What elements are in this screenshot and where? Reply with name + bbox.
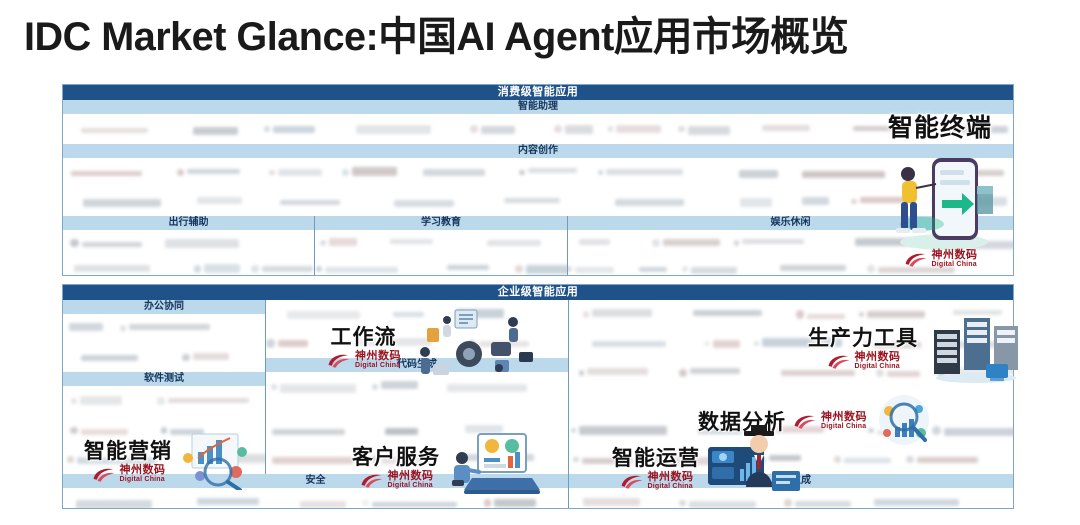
vendor-logo-placeholder xyxy=(944,428,1013,436)
consumer-row-label-content: 内容创作 xyxy=(63,144,1013,158)
vendor-logo-placeholder xyxy=(165,239,238,248)
vendor-logo-mark-placeholder xyxy=(583,311,590,318)
vendor-logo-mark-placeholder xyxy=(70,427,78,435)
vendor-logo-placeholder xyxy=(582,458,633,464)
vendor-logo-mark-placeholder xyxy=(372,384,379,391)
logo-row-education xyxy=(315,230,567,276)
vendor-logo-placeholder xyxy=(372,502,457,508)
enterprise-column-security: 安全 xyxy=(63,474,568,509)
vendor-logo-placeholder xyxy=(690,368,740,374)
vendor-logo-placeholder xyxy=(775,426,824,433)
vendor-logo-placeholder xyxy=(481,126,514,134)
vendor-logo-mark-placeholder xyxy=(320,240,326,246)
vendor-logo-placeholder xyxy=(390,239,433,244)
vendor-logo-placeholder xyxy=(968,241,1013,249)
enterprise-columns: 办公协同 软件测试 代码生成 xyxy=(63,300,1013,416)
vendor-logo-placeholder xyxy=(583,498,640,506)
vendor-logo-placeholder xyxy=(587,368,648,374)
vendor-logo-mark-placeholder xyxy=(161,427,168,434)
vendor-logo-mark-placeholder xyxy=(67,456,73,462)
vendor-logo-placeholder xyxy=(860,197,910,203)
enterprise-column-marketing xyxy=(63,416,265,474)
vendor-logo-placeholder xyxy=(81,128,148,134)
vendor-logo-placeholder xyxy=(952,126,1008,133)
vendor-logo-placeholder xyxy=(917,457,978,462)
vendor-logo-placeholder xyxy=(693,310,761,316)
enterprise-bottom-strip: 安全 应用生成 xyxy=(63,474,1013,509)
vendor-logo-placeholder xyxy=(887,371,920,376)
vendor-logo-placeholder xyxy=(385,428,417,435)
consumer-row-label-assistant: 智能助理 xyxy=(63,100,1013,114)
vendor-logo-placeholder xyxy=(740,198,772,207)
vendor-logo-placeholder xyxy=(394,200,453,206)
vendor-logo-placeholder xyxy=(526,265,567,274)
vendor-logo-placeholder xyxy=(278,169,323,176)
vendor-logo-mark-placeholder xyxy=(941,125,949,133)
vendor-logo-mark-placeholder xyxy=(70,239,79,248)
vendor-logo-placeholder xyxy=(616,125,661,133)
vendor-logo-mark-placeholder xyxy=(515,265,522,272)
vendor-logo-placeholder xyxy=(76,500,152,508)
enterprise-section-header: 企业级智能应用 xyxy=(63,285,1013,300)
vendor-logo-placeholder xyxy=(193,127,238,135)
vendor-logo-mark-placeholder xyxy=(959,240,966,247)
logo-row-appgen xyxy=(569,488,1013,509)
vendor-logo-placeholder xyxy=(949,368,1013,374)
logo-row-content xyxy=(63,158,1013,216)
vendor-logo-placeholder xyxy=(204,264,239,273)
vendor-logo-placeholder xyxy=(953,310,1002,315)
vendor-logo-mark-placeholder xyxy=(579,370,584,375)
vendor-logo-placeholder xyxy=(592,309,651,317)
vendor-logo-placeholder xyxy=(193,353,229,360)
vendor-logo-placeholder xyxy=(447,384,527,392)
consumer-column-travel: 出行辅助 xyxy=(63,216,314,276)
vendor-logo-placeholder xyxy=(606,169,683,175)
vendor-logo-placeholder xyxy=(272,429,345,434)
vendor-logo-placeholder xyxy=(504,198,560,203)
vendor-logo-placeholder xyxy=(487,240,541,247)
logo-row-security xyxy=(63,488,568,509)
vendor-logo-mark-placeholder xyxy=(868,428,874,434)
vendor-logo-placeholder xyxy=(168,398,249,403)
vendor-logo-placeholder xyxy=(81,355,138,361)
logo-row-productivity xyxy=(569,300,1013,358)
vendor-logo-placeholder xyxy=(807,314,845,320)
vendor-logo-mark-placeholder xyxy=(784,499,792,507)
vendor-logo-placeholder xyxy=(742,239,804,244)
vendor-logo-placeholder xyxy=(932,197,1007,206)
enterprise-label-office: 办公协同 xyxy=(63,300,265,314)
enterprise-columns-lower xyxy=(63,416,1013,474)
vendor-logo-mark-placeholder xyxy=(571,428,577,434)
vendor-logo-placeholder xyxy=(356,125,432,134)
vendor-logo-placeholder xyxy=(867,311,925,318)
vendor-logo-placeholder xyxy=(579,239,610,246)
vendor-logo-placeholder xyxy=(874,499,959,506)
consumer-column-label-travel: 出行辅助 xyxy=(63,216,314,230)
vendor-logo-mark-placeholder xyxy=(316,266,322,272)
vendor-logo-mark-placeholder xyxy=(348,341,354,347)
vendor-logo-placeholder xyxy=(287,311,359,319)
vendor-logo-mark-placeholder xyxy=(679,500,686,507)
vendor-logo-mark-placeholder xyxy=(269,170,275,176)
enterprise-label-testing: 软件测试 xyxy=(63,372,265,386)
vendor-logo-mark-placeholder xyxy=(906,456,914,464)
vendor-logo-placeholder xyxy=(463,454,534,461)
vendor-logo-mark-placeholder xyxy=(362,500,369,507)
vendor-logo-mark-placeholder xyxy=(194,265,201,272)
consumer-bottom-columns: 出行辅助 学习教育 娱乐休闲 xyxy=(63,216,1013,276)
vendor-logo-mark-placeholder xyxy=(851,199,857,205)
vendor-logo-placeholder xyxy=(739,170,778,178)
page-title: IDC Market Glance:中国AI Agent应用市场概览 xyxy=(24,8,1054,66)
vendor-logo-placeholder xyxy=(381,457,431,464)
vendor-logo-mark-placeholder xyxy=(863,340,871,348)
vendor-logo-placeholder xyxy=(74,265,150,272)
vendor-logo-placeholder xyxy=(795,501,851,507)
logo-row-assistant xyxy=(63,114,1013,144)
vendor-logo-placeholder xyxy=(844,458,891,463)
logo-row-code xyxy=(266,372,568,402)
vendor-logo-placeholder xyxy=(655,457,736,466)
vendor-logo-placeholder xyxy=(781,370,854,376)
vendor-logo-mark-placeholder xyxy=(796,310,805,319)
vendor-logo-mark-placeholder xyxy=(759,456,766,463)
vendor-logo-mark-placeholder xyxy=(264,126,270,132)
vendor-logo-placeholder xyxy=(273,126,315,133)
vendor-logo-mark-placeholder xyxy=(608,126,613,131)
vendor-logo-placeholder xyxy=(465,425,503,433)
vendor-logo-placeholder xyxy=(329,238,356,246)
vendor-logo-placeholder xyxy=(280,200,340,206)
vendor-logo-placeholder xyxy=(170,429,204,435)
enterprise-label-appgen: 应用生成 xyxy=(569,474,1013,488)
vendor-logo-placeholder xyxy=(82,242,142,248)
consumer-column-entertainment: 娱乐休闲 xyxy=(567,216,1013,276)
vendor-logo-placeholder xyxy=(81,429,128,435)
vendor-logo-placeholder xyxy=(615,199,685,206)
vendor-logo-mark-placeholder xyxy=(754,341,759,346)
vendor-logo-placeholder xyxy=(80,396,122,404)
vendor-logo-mark-placeholder xyxy=(484,499,491,506)
logo-row-operations xyxy=(569,416,1013,474)
vendor-logo-placeholder xyxy=(575,267,614,273)
vendor-logo-placeholder xyxy=(325,267,398,273)
vendor-logo-mark-placeholder xyxy=(251,265,258,272)
vendor-logo-mark-placeholder xyxy=(120,325,126,331)
consumer-column-label-entertainment: 娱乐休闲 xyxy=(568,216,1013,230)
vendor-logo-mark-placeholder xyxy=(573,457,578,462)
vendor-logo-mark-placeholder xyxy=(71,398,77,404)
vendor-logo-placeholder xyxy=(802,171,885,177)
vendor-logo-placeholder xyxy=(762,338,842,346)
vendor-logo-placeholder xyxy=(77,457,157,464)
logo-row-analytics xyxy=(569,358,1013,388)
vendor-logo-placeholder xyxy=(592,341,666,347)
vendor-logo-mark-placeholder xyxy=(937,369,946,378)
enterprise-column-office: 办公协同 软件测试 xyxy=(63,300,265,416)
vendor-logo-placeholder xyxy=(71,171,143,177)
vendor-logo-mark-placeholder xyxy=(932,426,940,434)
vendor-logo-mark-placeholder xyxy=(734,240,739,245)
logo-row-marketing xyxy=(63,416,265,474)
vendor-logo-mark-placeholder xyxy=(859,312,865,318)
vendor-logo-placeholder xyxy=(300,501,345,507)
vendor-logo-placeholder xyxy=(579,426,667,434)
vendor-logo-placeholder xyxy=(877,430,910,436)
vendor-logo-placeholder xyxy=(69,323,102,331)
vendor-logo-mark-placeholder xyxy=(177,169,185,177)
vendor-logo-placeholder xyxy=(83,199,161,206)
consumer-column-education: 学习教育 xyxy=(314,216,567,276)
logo-row-travel xyxy=(63,230,314,276)
vendor-logo-placeholder xyxy=(780,265,846,271)
vendor-logo-placeholder xyxy=(874,342,920,348)
vendor-logo-placeholder xyxy=(855,238,927,246)
vendor-logo-mark-placeholder xyxy=(652,239,660,247)
logo-row-workflow xyxy=(266,300,568,358)
vendor-logo-mark-placeholder xyxy=(763,426,772,435)
vendor-logo-placeholder xyxy=(878,267,955,273)
vendor-logo-placeholder xyxy=(393,312,425,318)
vendor-logo-placeholder xyxy=(528,168,578,173)
logo-row-entertainment xyxy=(568,230,1013,276)
enterprise-label-security: 安全 xyxy=(63,474,568,488)
vendor-logo-mark-placeholder xyxy=(342,169,349,176)
enterprise-column-productivity xyxy=(568,300,1013,416)
vendor-logo-mark-placeholder xyxy=(519,170,524,175)
vendor-logo-mark-placeholder xyxy=(371,456,378,463)
vendor-logo-placeholder xyxy=(280,384,356,392)
vendor-logo-mark-placeholder xyxy=(679,369,687,377)
vendor-logo-placeholder xyxy=(691,267,737,274)
vendor-logo-mark-placeholder xyxy=(157,397,165,405)
vendor-logo-mark-placeholder xyxy=(568,266,572,273)
vendor-logo-mark-placeholder xyxy=(678,126,684,132)
vendor-logo-mark-placeholder xyxy=(598,170,603,175)
vendor-logo-placeholder xyxy=(853,126,908,131)
vendor-logo-placeholder xyxy=(352,167,397,175)
vendor-logo-placeholder xyxy=(762,125,811,131)
vendor-logo-placeholder xyxy=(951,341,1013,348)
vendor-logo-placeholder xyxy=(278,340,309,347)
vendor-logo-mark-placeholder xyxy=(682,266,688,272)
logo-row-service xyxy=(266,416,568,474)
consumer-section-header: 消费级智能应用 xyxy=(63,85,1013,100)
enterprise-column-operations xyxy=(568,416,1013,474)
vendor-logo-placeholder xyxy=(197,498,259,506)
vendor-logo-placeholder xyxy=(565,125,594,133)
enterprise-section-panel: 企业级智能应用 办公协同 软件测试 代码生成 xyxy=(62,284,1014,509)
vendor-logo-placeholder xyxy=(198,454,265,462)
vendor-logo-mark-placeholder xyxy=(271,384,277,390)
consumer-section-panel: 消费级智能应用 智能助理 内容创作 出行辅助 学习教育 娱乐休闲 xyxy=(62,84,1014,276)
vendor-logo-mark-placeholder xyxy=(182,354,190,362)
vendor-logo-mark-placeholder xyxy=(470,125,479,134)
vendor-logo-placeholder xyxy=(688,126,731,135)
vendor-logo-placeholder xyxy=(129,324,210,330)
vendor-logo-placeholder xyxy=(802,197,829,205)
vendor-logo-placeholder xyxy=(423,169,485,176)
vendor-logo-placeholder xyxy=(494,499,536,507)
logo-row-testing xyxy=(63,386,265,416)
vendor-logo-placeholder xyxy=(639,267,667,272)
vendor-logo-placeholder xyxy=(663,239,719,246)
vendor-logo-placeholder xyxy=(689,501,756,508)
vendor-logo-placeholder xyxy=(356,338,432,345)
vendor-logo-mark-placeholder xyxy=(867,265,875,273)
vendor-logo-placeholder xyxy=(381,381,417,388)
vendor-logo-mark-placeholder xyxy=(468,340,476,348)
enterprise-column-service xyxy=(265,416,568,474)
enterprise-label-code: 代码生成 xyxy=(266,358,568,372)
vendor-logo-placeholder xyxy=(456,309,504,318)
vendor-logo-mark-placeholder xyxy=(941,340,948,347)
vendor-logo-mark-placeholder xyxy=(876,369,884,377)
vendor-logo-placeholder xyxy=(262,266,313,272)
enterprise-column-appgen: 应用生成 xyxy=(568,474,1013,509)
vendor-logo-mark-placeholder xyxy=(704,341,710,347)
vendor-logo-mark-placeholder xyxy=(834,456,841,463)
enterprise-column-code: 代码生成 xyxy=(265,300,568,416)
vendor-logo-placeholder xyxy=(447,265,488,270)
vendor-logo-placeholder xyxy=(698,427,742,434)
vendor-logo-placeholder xyxy=(272,457,354,464)
vendor-logo-placeholder xyxy=(713,340,740,347)
vendor-logo-mark-placeholder xyxy=(266,339,274,347)
vendor-logo-placeholder xyxy=(933,170,1004,176)
vendor-logo-placeholder xyxy=(479,341,529,347)
vendor-logo-mark-placeholder xyxy=(554,125,562,133)
logo-row-office xyxy=(63,314,265,372)
vendor-logo-placeholder xyxy=(769,455,801,461)
consumer-column-label-education: 学习教育 xyxy=(315,216,567,230)
vendor-logo-placeholder xyxy=(187,169,240,174)
vendor-logo-placeholder xyxy=(197,197,243,204)
